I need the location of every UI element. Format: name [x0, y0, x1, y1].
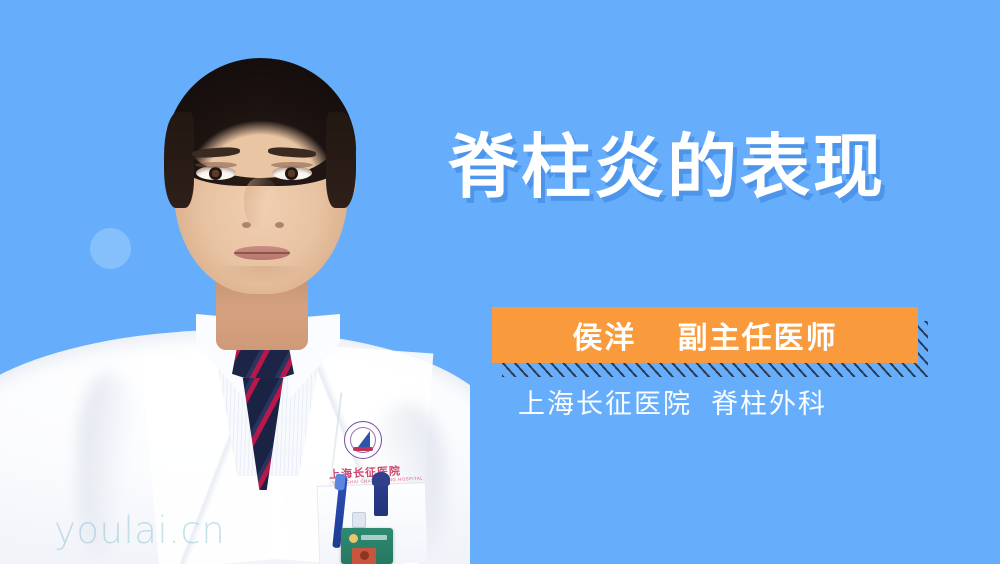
id-badge-logo-icon	[349, 534, 358, 543]
speaker-affiliation-label: 上海长征医院 脊柱外科	[518, 382, 827, 421]
nostril-right	[275, 222, 284, 228]
hair-sideburn-left	[164, 112, 194, 208]
id-badge-photo-head	[360, 551, 369, 560]
id-badge-text-strip	[361, 535, 387, 540]
speaker-name-badge: 侯洋 副主任医师	[492, 307, 918, 363]
id-badge-clip	[352, 512, 366, 528]
eye-left	[196, 166, 236, 180]
lip-line	[234, 252, 290, 254]
nostril-left	[242, 222, 251, 228]
page-title: 脊柱炎的表现	[448, 131, 886, 205]
chin-shadow	[218, 266, 306, 284]
doctor-portrait-photo: 上海长征医院 SHANGHAI CHANGZHENG HOSPITAL	[0, 0, 470, 564]
pen-blue-cap	[334, 474, 346, 491]
thumbnail-canvas: 上海长征医院 SHANGHAI CHANGZHENG HOSPITAL youl…	[0, 0, 1000, 564]
hair-sideburn-right	[326, 112, 356, 208]
eye-right	[272, 166, 312, 180]
hospital-emblem-wave-icon	[353, 447, 373, 451]
pupil-right	[285, 167, 298, 180]
pupil-left	[209, 167, 222, 180]
watermark: youlai.cn	[54, 509, 225, 552]
eyelid-right	[271, 162, 313, 168]
eyelid-left	[195, 162, 237, 168]
pen-navy-cap	[372, 472, 390, 486]
speaker-name-title-label: 侯洋 副主任医师	[572, 313, 837, 357]
